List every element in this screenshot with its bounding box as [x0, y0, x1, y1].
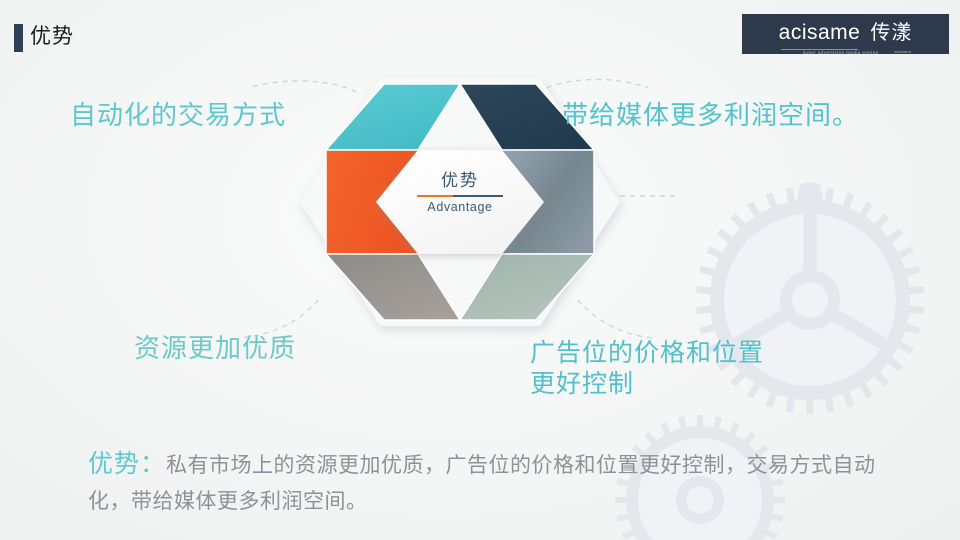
logo-chinese-name: 传漾 [870, 22, 912, 44]
brand-logo: acisame 传漾 super advertising media engin… [742, 14, 949, 54]
callout-top-right: 带给媒体更多利润空间。 [562, 99, 859, 131]
logo-wordmark: acisame [779, 22, 861, 44]
page-title: 优势 [30, 21, 74, 53]
callout-bottom-left: 资源更加优质 [134, 332, 296, 364]
title-accent-bar [14, 24, 23, 52]
logo-chinese-sub: acisame [894, 49, 911, 54]
summary-body: 私有市场上的资源更加优质，广告位的价格和位置更好控制，交易方式自动化，带给媒体更… [88, 454, 876, 513]
callout-top-left: 自动化的交易方式 [70, 99, 286, 131]
logo-tagline: super advertising media engine [779, 50, 903, 55]
summary-separator: ： [140, 450, 166, 478]
summary-paragraph: 优势：私有市场上的资源更加优质，广告位的价格和位置更好控制，交易方式自动化，带给… [88, 446, 888, 520]
slide-canvas: 优势 acisame 传漾 super advertising media en… [0, 0, 960, 540]
callout-bottom-right: 广告位的价格和位置 更好控制 [530, 338, 764, 400]
summary-keyword: 优势 [88, 450, 140, 478]
